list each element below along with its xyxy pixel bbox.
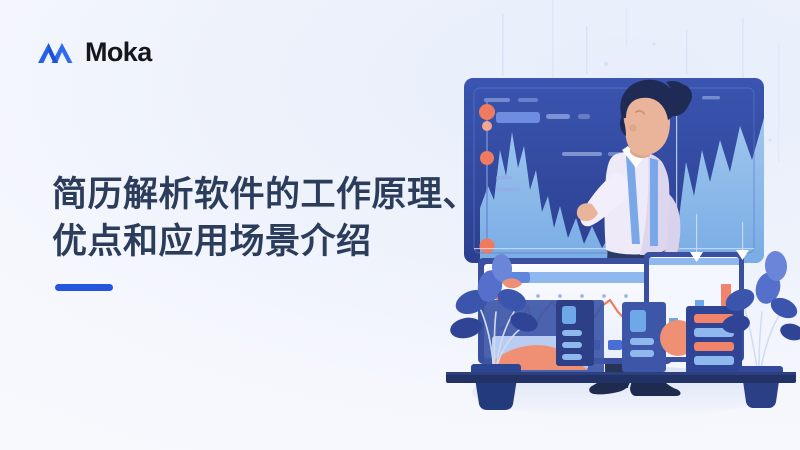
brand-logo[interactable]: Moka — [36, 38, 152, 66]
data-analyst-dashboard-illustration: 3 — [440, 0, 800, 450]
moka-logo-icon — [36, 38, 76, 66]
title-line-2: 优点和应用场景介绍 — [52, 219, 478, 266]
title-accent-bar — [55, 284, 113, 291]
slide-root: Moka 简历解析软件的工作原理、 优点和应用场景介绍 — [0, 0, 800, 450]
title-line-1: 简历解析软件的工作原理、 — [52, 172, 478, 219]
page-title: 简历解析软件的工作原理、 优点和应用场景介绍 — [52, 172, 478, 291]
brand-name: Moka — [85, 39, 152, 66]
